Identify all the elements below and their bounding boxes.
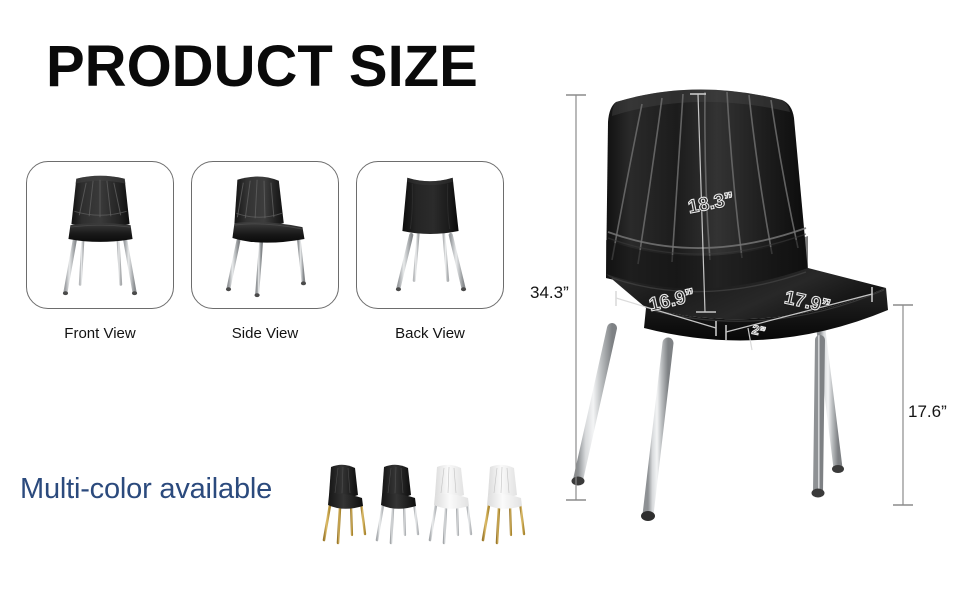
variant-black-silver xyxy=(377,465,418,543)
back-view-chair-image xyxy=(357,162,503,308)
chair-legs xyxy=(572,322,845,521)
view-card-front[interactable] xyxy=(26,161,174,309)
view-caption-back: Back View xyxy=(356,325,504,342)
dimension-label-overall-height: 34.3” xyxy=(530,283,569,303)
variant-white-silver xyxy=(430,465,471,543)
page-title: PRODUCT SIZE xyxy=(46,38,478,96)
variant-black-gold xyxy=(324,465,365,543)
variant-white-gold xyxy=(483,465,524,543)
main-chair-image xyxy=(520,60,970,560)
main-chair-stage xyxy=(520,60,970,560)
chair-backrest xyxy=(606,89,808,289)
view-caption-front: Front View xyxy=(26,325,174,342)
product-size-infographic: PRODUCT SIZE xyxy=(0,0,970,600)
front-view-chair-image xyxy=(27,162,173,308)
multicolor-headline: Multi-color available xyxy=(20,473,272,506)
dimension-label-seat-height: 17.6” xyxy=(908,402,947,422)
view-caption-side: Side View xyxy=(191,325,339,342)
side-view-chair-image xyxy=(192,162,338,308)
view-card-back[interactable] xyxy=(356,161,504,309)
color-variant-chairs-image xyxy=(315,455,535,555)
view-card-side[interactable] xyxy=(191,161,339,309)
dimension-label-seat-thickness: 2” xyxy=(751,322,768,340)
color-variant-row xyxy=(315,455,535,555)
